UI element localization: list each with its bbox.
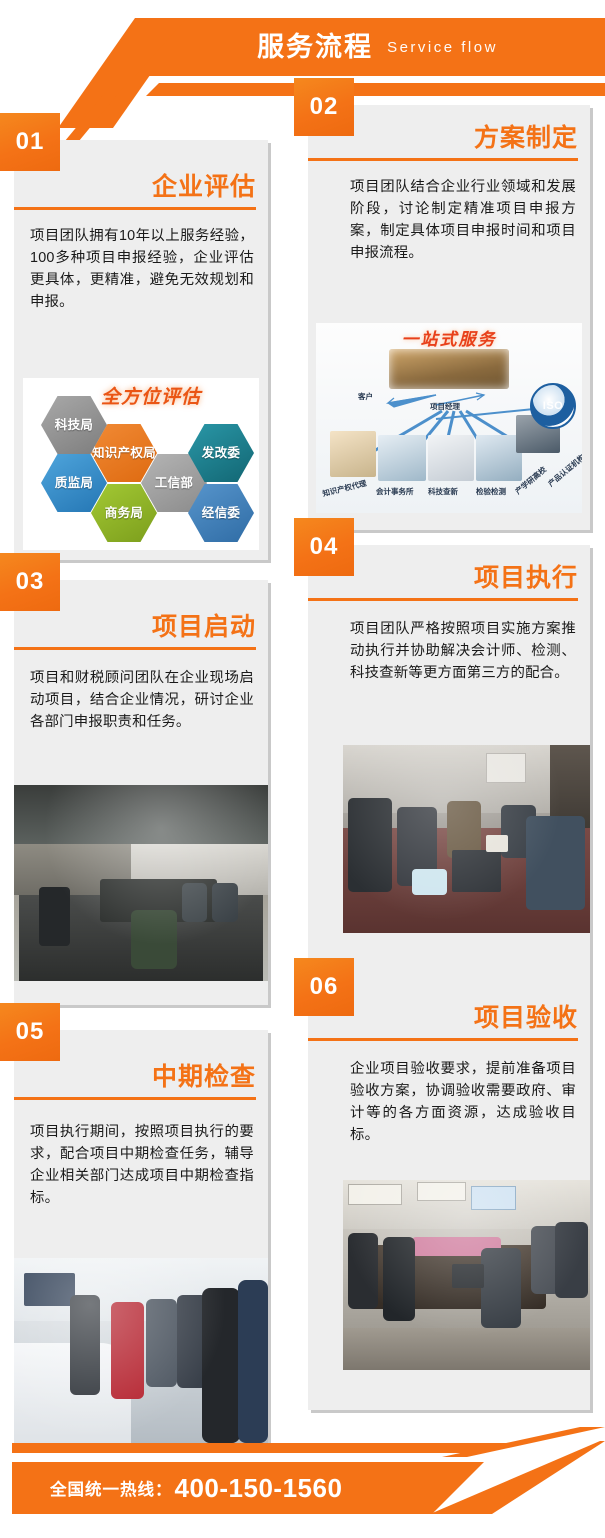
hotline-group: 全国统一热线： 400-150-1560 (50, 1462, 342, 1514)
step-title-03: 项目启动 (14, 614, 268, 640)
step-card-03[interactable]: 03 项目启动 项目和财税顾问团队在企业现场启动项目，结合企业情况，研讨企业各部… (14, 580, 268, 1005)
page-subtitle: Service flow (387, 40, 498, 55)
page-footer: 全国统一热线： 400-150-1560 (0, 1405, 605, 1538)
step-description-05: 项目执行期间，按照项目执行的要求，配合项目中期检查任务，辅导企业相关部门达成项目… (14, 1100, 268, 1210)
step-number-badge-06: 06 (294, 958, 354, 1016)
step-number-badge-02: 02 (294, 78, 354, 136)
figure-onestop-diagram: 一站式服务 (316, 323, 582, 513)
step-number-badge-01: 01 (0, 113, 60, 171)
figure-hexagon-diagram: 全方位评估 科技局 知识产权局 质监局 工信部 商务局 发改委 经信委 (23, 378, 259, 550)
service-flow-poster: 服务流程 Service flow 01 企业评估 项目团队拥有10年以上服务经… (0, 0, 605, 1538)
step-card-01[interactable]: 01 企业评估 项目团队拥有10年以上服务经验，100多种项目申报经验，企业评估… (14, 140, 268, 560)
page-title: 服务流程 (257, 34, 373, 61)
step-description-03: 项目和财税顾问团队在企业现场启动项目，结合企业情况，研讨企业各部门申报职责和任务… (14, 650, 268, 734)
hotline-label: 全国统一热线： (50, 1476, 173, 1500)
figure-photo-03 (14, 785, 268, 981)
onestop-node-search (428, 435, 474, 481)
step-number-badge-03: 03 (0, 553, 60, 611)
onestop-node-ip (330, 431, 376, 477)
step-card-04[interactable]: 04 项目执行 项目团队严格按照项目实施方案推动执行并协助解决会计师、检测、科技… (308, 545, 590, 985)
step-description-04: 项目团队严格按照项目实施方案推动执行并协助解决会计师、检测、科技查新等更方面第三… (308, 601, 590, 685)
step-description-06: 企业项目验收要求，提前准备项目验收方案，协调验收需要政府、审计等的各方面资源，达… (308, 1041, 590, 1147)
onestop-label-tech-search: 科技查新 (428, 486, 458, 497)
step-card-06[interactable]: 06 项目验收 企业项目验收要求，提前准备项目验收方案，协调验收需要政府、审计等… (308, 985, 590, 1410)
step-card-02[interactable]: 02 方案制定 项目团队结合企业行业领域和发展阶段，讨论制定精准项目申报方案，制… (308, 105, 590, 530)
figure-photo-04 (343, 745, 590, 933)
onestop-node-accounting (378, 435, 426, 481)
hotline-number[interactable]: 400-150-1560 (175, 1473, 343, 1504)
step-description-02: 项目团队结合企业行业领域和发展阶段，讨论制定精准项目申报方案，制定具体项目申报时… (308, 161, 590, 265)
figure-photo-06 (343, 1180, 590, 1370)
step-title-01: 企业评估 (14, 174, 268, 200)
footer-stripe-decoration (12, 1443, 512, 1453)
onestop-label-accounting-firm: 会计事务所 (376, 486, 414, 497)
step-number-badge-05: 05 (0, 1003, 60, 1061)
header-title-group: 服务流程 Service flow (150, 18, 605, 76)
step-description-01: 项目团队拥有10年以上服务经验，100多种项目申报经验，企业评估更具体，更精准，… (14, 210, 268, 314)
onestop-label-inspection: 检验检测 (476, 486, 506, 497)
step-number-badge-04: 04 (294, 518, 354, 576)
steps-grid: 01 企业评估 项目团队拥有10年以上服务经验，100多种项目申报经验，企业评估… (0, 105, 605, 1405)
onestop-label-customer: 客户 (358, 391, 373, 402)
hexagon-diagram-title: 全方位评估 (101, 382, 201, 409)
onestop-iso-badge: ISO (530, 383, 576, 429)
header-banner-stripe (146, 83, 605, 96)
step-card-05[interactable]: 05 中期检查 项目执行期间，按照项目执行的要求，配合项目中期检查任务，辅导企业… (14, 1030, 268, 1450)
onestop-label-manager: 项目经理 (430, 401, 460, 412)
step-title-05: 中期检查 (14, 1064, 268, 1090)
iso-badge-label: ISO (532, 385, 574, 427)
